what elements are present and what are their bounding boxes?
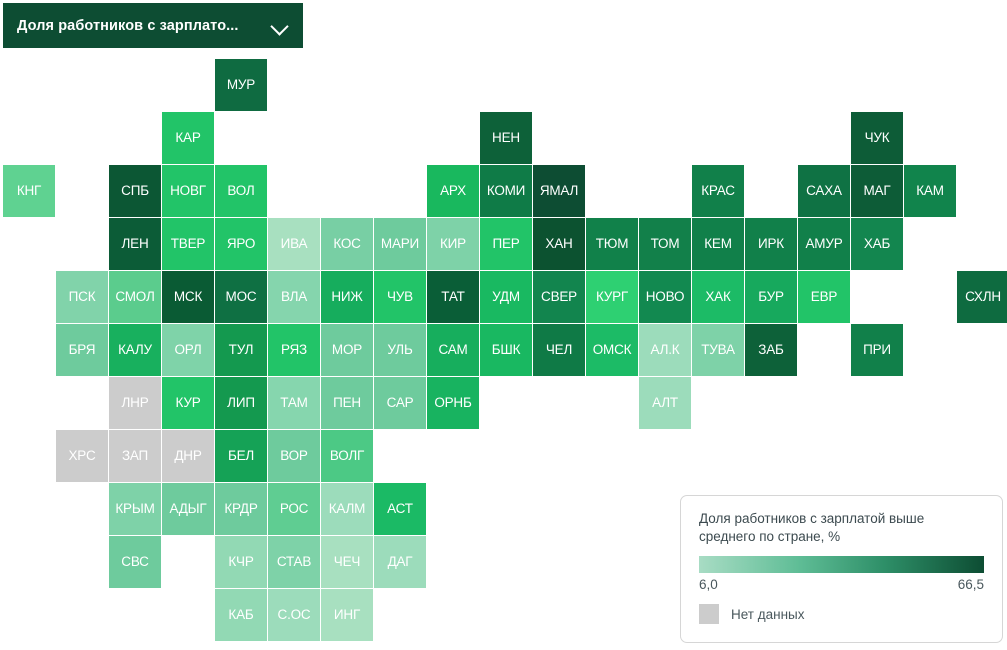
- region-tile[interactable]: АЛ.К: [639, 324, 691, 376]
- region-tile-label: МСК: [174, 290, 202, 304]
- region-tile[interactable]: СМОЛ: [109, 271, 161, 323]
- region-tile[interactable]: АДЫГ: [162, 483, 214, 535]
- region-tile-label: ЧЕЧ: [334, 555, 360, 569]
- region-tile-label: ЯМАЛ: [540, 184, 578, 198]
- region-tile[interactable]: ПСК: [56, 271, 108, 323]
- region-tile[interactable]: КАМ: [904, 165, 956, 217]
- region-tile-label: КНГ: [17, 184, 41, 198]
- region-tile[interactable]: ВЛА: [268, 271, 320, 323]
- region-tile[interactable]: ОМСК: [586, 324, 638, 376]
- region-tile-label: КАБ: [228, 608, 253, 622]
- region-tile-label: КУРГ: [596, 290, 628, 304]
- region-tile-label: НИЖ: [331, 290, 362, 304]
- region-tile[interactable]: ЗАБ: [745, 324, 797, 376]
- region-tile-label: МУР: [227, 78, 255, 92]
- region-tile-label: КУР: [176, 396, 201, 410]
- legend-nodata-label: Нет данных: [731, 607, 805, 622]
- region-tile[interactable]: МУР: [215, 59, 267, 111]
- region-tile[interactable]: КРДР: [215, 483, 267, 535]
- region-tile[interactable]: БЕЛ: [215, 430, 267, 482]
- region-tile[interactable]: ХАК: [692, 271, 744, 323]
- region-tile[interactable]: РЯЗ: [268, 324, 320, 376]
- region-tile[interactable]: ТЮМ: [586, 218, 638, 270]
- region-tile-label: ОРНБ: [434, 396, 471, 410]
- region-tile[interactable]: ЯРО: [215, 218, 267, 270]
- region-tile[interactable]: ЛИП: [215, 377, 267, 429]
- region-tile[interactable]: КНГ: [3, 165, 55, 217]
- region-tile[interactable]: НОВГ: [162, 165, 214, 217]
- region-tile[interactable]: САР: [374, 377, 426, 429]
- region-tile-label: ИВА: [281, 237, 308, 251]
- region-tile[interactable]: ИРК: [745, 218, 797, 270]
- region-tile-label: ПСК: [69, 290, 96, 304]
- region-tile-label: ДАГ: [388, 555, 413, 569]
- region-tile-label: ЯРО: [227, 237, 255, 251]
- region-tile[interactable]: СВЕР: [533, 271, 585, 323]
- region-tile-label: САР: [387, 396, 414, 410]
- legend-panel: Доля работников с зарплатой выше среднег…: [680, 495, 1003, 643]
- region-tile-label: ХАК: [705, 290, 730, 304]
- region-tile[interactable]: СТАВ: [268, 536, 320, 588]
- region-tile-label: ИНГ: [334, 608, 360, 622]
- region-tile[interactable]: ПРИ: [851, 324, 903, 376]
- region-tile[interactable]: КУРГ: [586, 271, 638, 323]
- region-tile[interactable]: ПЕР: [480, 218, 532, 270]
- region-tile[interactable]: ЛНР: [109, 377, 161, 429]
- region-tile[interactable]: ЧЕЛ: [533, 324, 585, 376]
- region-tile-label: КРЫМ: [115, 502, 154, 516]
- region-tile-label: ЧУК: [865, 131, 890, 145]
- region-tile[interactable]: ОРНБ: [427, 377, 479, 429]
- region-tile-label: ЧЕЛ: [546, 343, 572, 357]
- region-tile-label: АЛТ: [652, 396, 678, 410]
- region-tile-label: НОВГ: [170, 184, 206, 198]
- region-tile[interactable]: РОС: [268, 483, 320, 535]
- region-tile[interactable]: СХЛН: [957, 271, 1007, 323]
- region-tile-label: КОМИ: [487, 184, 525, 198]
- region-tile[interactable]: УДМ: [480, 271, 532, 323]
- region-tile[interactable]: ТОМ: [639, 218, 691, 270]
- region-tile[interactable]: ОРЛ: [162, 324, 214, 376]
- legend-nodata-row: Нет данных: [699, 604, 984, 624]
- region-tile[interactable]: САХА: [798, 165, 850, 217]
- region-tile-label: ОРЛ: [174, 343, 201, 357]
- region-tile-label: ОМСК: [593, 343, 632, 357]
- region-tile[interactable]: ЕВР: [798, 271, 850, 323]
- region-tile-label: КЕМ: [704, 237, 732, 251]
- region-tile-label: АМУР: [805, 237, 842, 251]
- region-tile[interactable]: ЗАП: [109, 430, 161, 482]
- region-tile-label: СХЛН: [965, 290, 1001, 304]
- region-tile[interactable]: КЕМ: [692, 218, 744, 270]
- region-tile-label: КОС: [333, 237, 360, 251]
- region-tile-label: МОС: [226, 290, 257, 304]
- region-tile-label: КАР: [175, 131, 200, 145]
- region-tile[interactable]: УЛЬ: [374, 324, 426, 376]
- region-tile[interactable]: ВОЛ: [215, 165, 267, 217]
- region-tile-label: БУР: [758, 290, 784, 304]
- region-tile-label: МАРИ: [381, 237, 419, 251]
- region-tile[interactable]: АСТ: [374, 483, 426, 535]
- region-tile-label: С.ОС: [278, 608, 311, 622]
- region-tile-label: ЧУВ: [387, 290, 413, 304]
- region-tile[interactable]: СВС: [109, 536, 161, 588]
- region-tile[interactable]: МСК: [162, 271, 214, 323]
- region-tile[interactable]: КЧР: [215, 536, 267, 588]
- region-tile-label: ВОЛ: [227, 184, 254, 198]
- region-tile-label: ТАТ: [441, 290, 464, 304]
- region-tile[interactable]: КРАС: [692, 165, 744, 217]
- region-tile[interactable]: ЯМАЛ: [533, 165, 585, 217]
- region-tile-label: ТОМ: [651, 237, 680, 251]
- region-tile-label: САХА: [806, 184, 842, 198]
- region-tile-label: КРДР: [224, 502, 257, 516]
- region-tile-label: МОР: [332, 343, 362, 357]
- region-tile[interactable]: ВОР: [268, 430, 320, 482]
- region-tile[interactable]: КАР: [162, 112, 214, 164]
- region-tile-label: МАГ: [864, 184, 891, 198]
- region-tile[interactable]: АРХ: [427, 165, 479, 217]
- region-tile-label: САМ: [438, 343, 467, 357]
- region-tile[interactable]: ЧУК: [851, 112, 903, 164]
- legend-scale: 6,0 66,5: [699, 577, 984, 592]
- region-tile-label: КАМ: [916, 184, 944, 198]
- region-tile-label: СМОЛ: [115, 290, 154, 304]
- region-tile-label: ВЛА: [281, 290, 307, 304]
- region-tile[interactable]: ВОЛГ: [321, 430, 373, 482]
- region-tile[interactable]: МАГ: [851, 165, 903, 217]
- region-tile-label: ЛЕН: [121, 237, 148, 251]
- region-tile[interactable]: ХАБ: [851, 218, 903, 270]
- region-tile-label: АРХ: [440, 184, 466, 198]
- region-tile-label: НЕН: [492, 131, 520, 145]
- region-tile-label: ХАН: [545, 237, 572, 251]
- region-tile-label: КЧР: [228, 555, 253, 569]
- region-tile-label: ВОР: [280, 449, 307, 463]
- region-tile-label: ТАМ: [280, 396, 307, 410]
- region-tile[interactable]: КРЫМ: [109, 483, 161, 535]
- region-tile-label: УЛЬ: [387, 343, 412, 357]
- region-tile-label: ТЮМ: [596, 237, 629, 251]
- region-tile[interactable]: КАЛУ: [109, 324, 161, 376]
- legend-min-value: 6,0: [699, 577, 718, 592]
- region-tile-label: ДНР: [174, 449, 201, 463]
- region-tile-label: РЯЗ: [281, 343, 307, 357]
- region-tile[interactable]: С.ОС: [268, 589, 320, 641]
- region-tile[interactable]: КИР: [427, 218, 479, 270]
- region-tile[interactable]: АМУР: [798, 218, 850, 270]
- region-tile-label: СТАВ: [277, 555, 311, 569]
- region-tile-label: ЗАП: [122, 449, 148, 463]
- region-tile[interactable]: ЛЕН: [109, 218, 161, 270]
- region-tile-label: ТУВА: [701, 343, 735, 357]
- region-tile-label: АЛ.К: [651, 343, 680, 357]
- region-tile[interactable]: МОР: [321, 324, 373, 376]
- region-tile-label: СВС: [121, 555, 148, 569]
- region-tile[interactable]: ЧУВ: [374, 271, 426, 323]
- region-tile-label: АДЫГ: [169, 502, 206, 516]
- region-tile-label: БРЯ: [69, 343, 96, 357]
- region-tile-label: НОВО: [646, 290, 685, 304]
- region-tile-label: ПЕР: [492, 237, 519, 251]
- region-tile-label: КАЛМ: [329, 502, 365, 516]
- region-tile[interactable]: ПЕН: [321, 377, 373, 429]
- region-tile[interactable]: ДНР: [162, 430, 214, 482]
- region-tile[interactable]: ИВА: [268, 218, 320, 270]
- region-tile[interactable]: БУР: [745, 271, 797, 323]
- region-tile-label: КРАС: [701, 184, 735, 198]
- legend-max-value: 66,5: [958, 577, 984, 592]
- region-tile[interactable]: БШК: [480, 324, 532, 376]
- region-tile[interactable]: ТУЛ: [215, 324, 267, 376]
- region-tile[interactable]: ДАГ: [374, 536, 426, 588]
- region-tile-label: БШК: [492, 343, 521, 357]
- region-tile-label: РОС: [280, 502, 308, 516]
- legend-color-gradient: [699, 556, 984, 573]
- region-tile[interactable]: НИЖ: [321, 271, 373, 323]
- region-tile-label: СВЕР: [541, 290, 577, 304]
- region-tile-label: ХРС: [68, 449, 95, 463]
- region-tile[interactable]: БРЯ: [56, 324, 108, 376]
- region-tile-label: ЛНР: [121, 396, 148, 410]
- region-tile[interactable]: КАБ: [215, 589, 267, 641]
- region-tile-label: ПРИ: [863, 343, 891, 357]
- region-tile-label: УДМ: [492, 290, 520, 304]
- region-tile-label: ИРК: [758, 237, 784, 251]
- region-tile-label: БЕЛ: [228, 449, 254, 463]
- legend-nodata-swatch: [699, 604, 719, 624]
- region-tile[interactable]: ХАН: [533, 218, 585, 270]
- region-tile[interactable]: САМ: [427, 324, 479, 376]
- region-tile-label: ЕВР: [811, 290, 837, 304]
- region-tile-label: ХАБ: [864, 237, 890, 251]
- region-tile[interactable]: ЧЕЧ: [321, 536, 373, 588]
- region-tile[interactable]: ХРС: [56, 430, 108, 482]
- region-tile[interactable]: НОВО: [639, 271, 691, 323]
- region-tile[interactable]: ТАМ: [268, 377, 320, 429]
- region-tile[interactable]: ИНГ: [321, 589, 373, 641]
- tile-map-page: Доля работников с зарплато... МУРКАРНЕНЧ…: [0, 0, 1007, 650]
- region-tile-label: КИР: [440, 237, 466, 251]
- legend-title: Доля работников с зарплатой выше среднег…: [699, 510, 984, 546]
- region-tile-label: СПБ: [121, 184, 149, 198]
- region-tile-label: ЛИП: [227, 396, 255, 410]
- region-tile[interactable]: НЕН: [480, 112, 532, 164]
- region-tile[interactable]: АЛТ: [639, 377, 691, 429]
- region-tile[interactable]: КУР: [162, 377, 214, 429]
- region-tile-label: ПЕН: [333, 396, 361, 410]
- region-tile-label: ТВЕР: [171, 237, 205, 251]
- region-tile-label: ТУЛ: [229, 343, 254, 357]
- region-tile[interactable]: КОМИ: [480, 165, 532, 217]
- region-tile[interactable]: МАРИ: [374, 218, 426, 270]
- region-tile[interactable]: ТАТ: [427, 271, 479, 323]
- region-tile[interactable]: КОС: [321, 218, 373, 270]
- region-tile-label: ЗАБ: [758, 343, 783, 357]
- region-tile-label: ВОЛГ: [330, 449, 364, 463]
- region-tile-label: АСТ: [387, 502, 413, 516]
- region-tile[interactable]: МОС: [215, 271, 267, 323]
- region-tile[interactable]: СПБ: [109, 165, 161, 217]
- region-tile[interactable]: ТУВА: [692, 324, 744, 376]
- region-tile[interactable]: КАЛМ: [321, 483, 373, 535]
- region-tile-label: КАЛУ: [118, 343, 152, 357]
- region-tile[interactable]: ТВЕР: [162, 218, 214, 270]
